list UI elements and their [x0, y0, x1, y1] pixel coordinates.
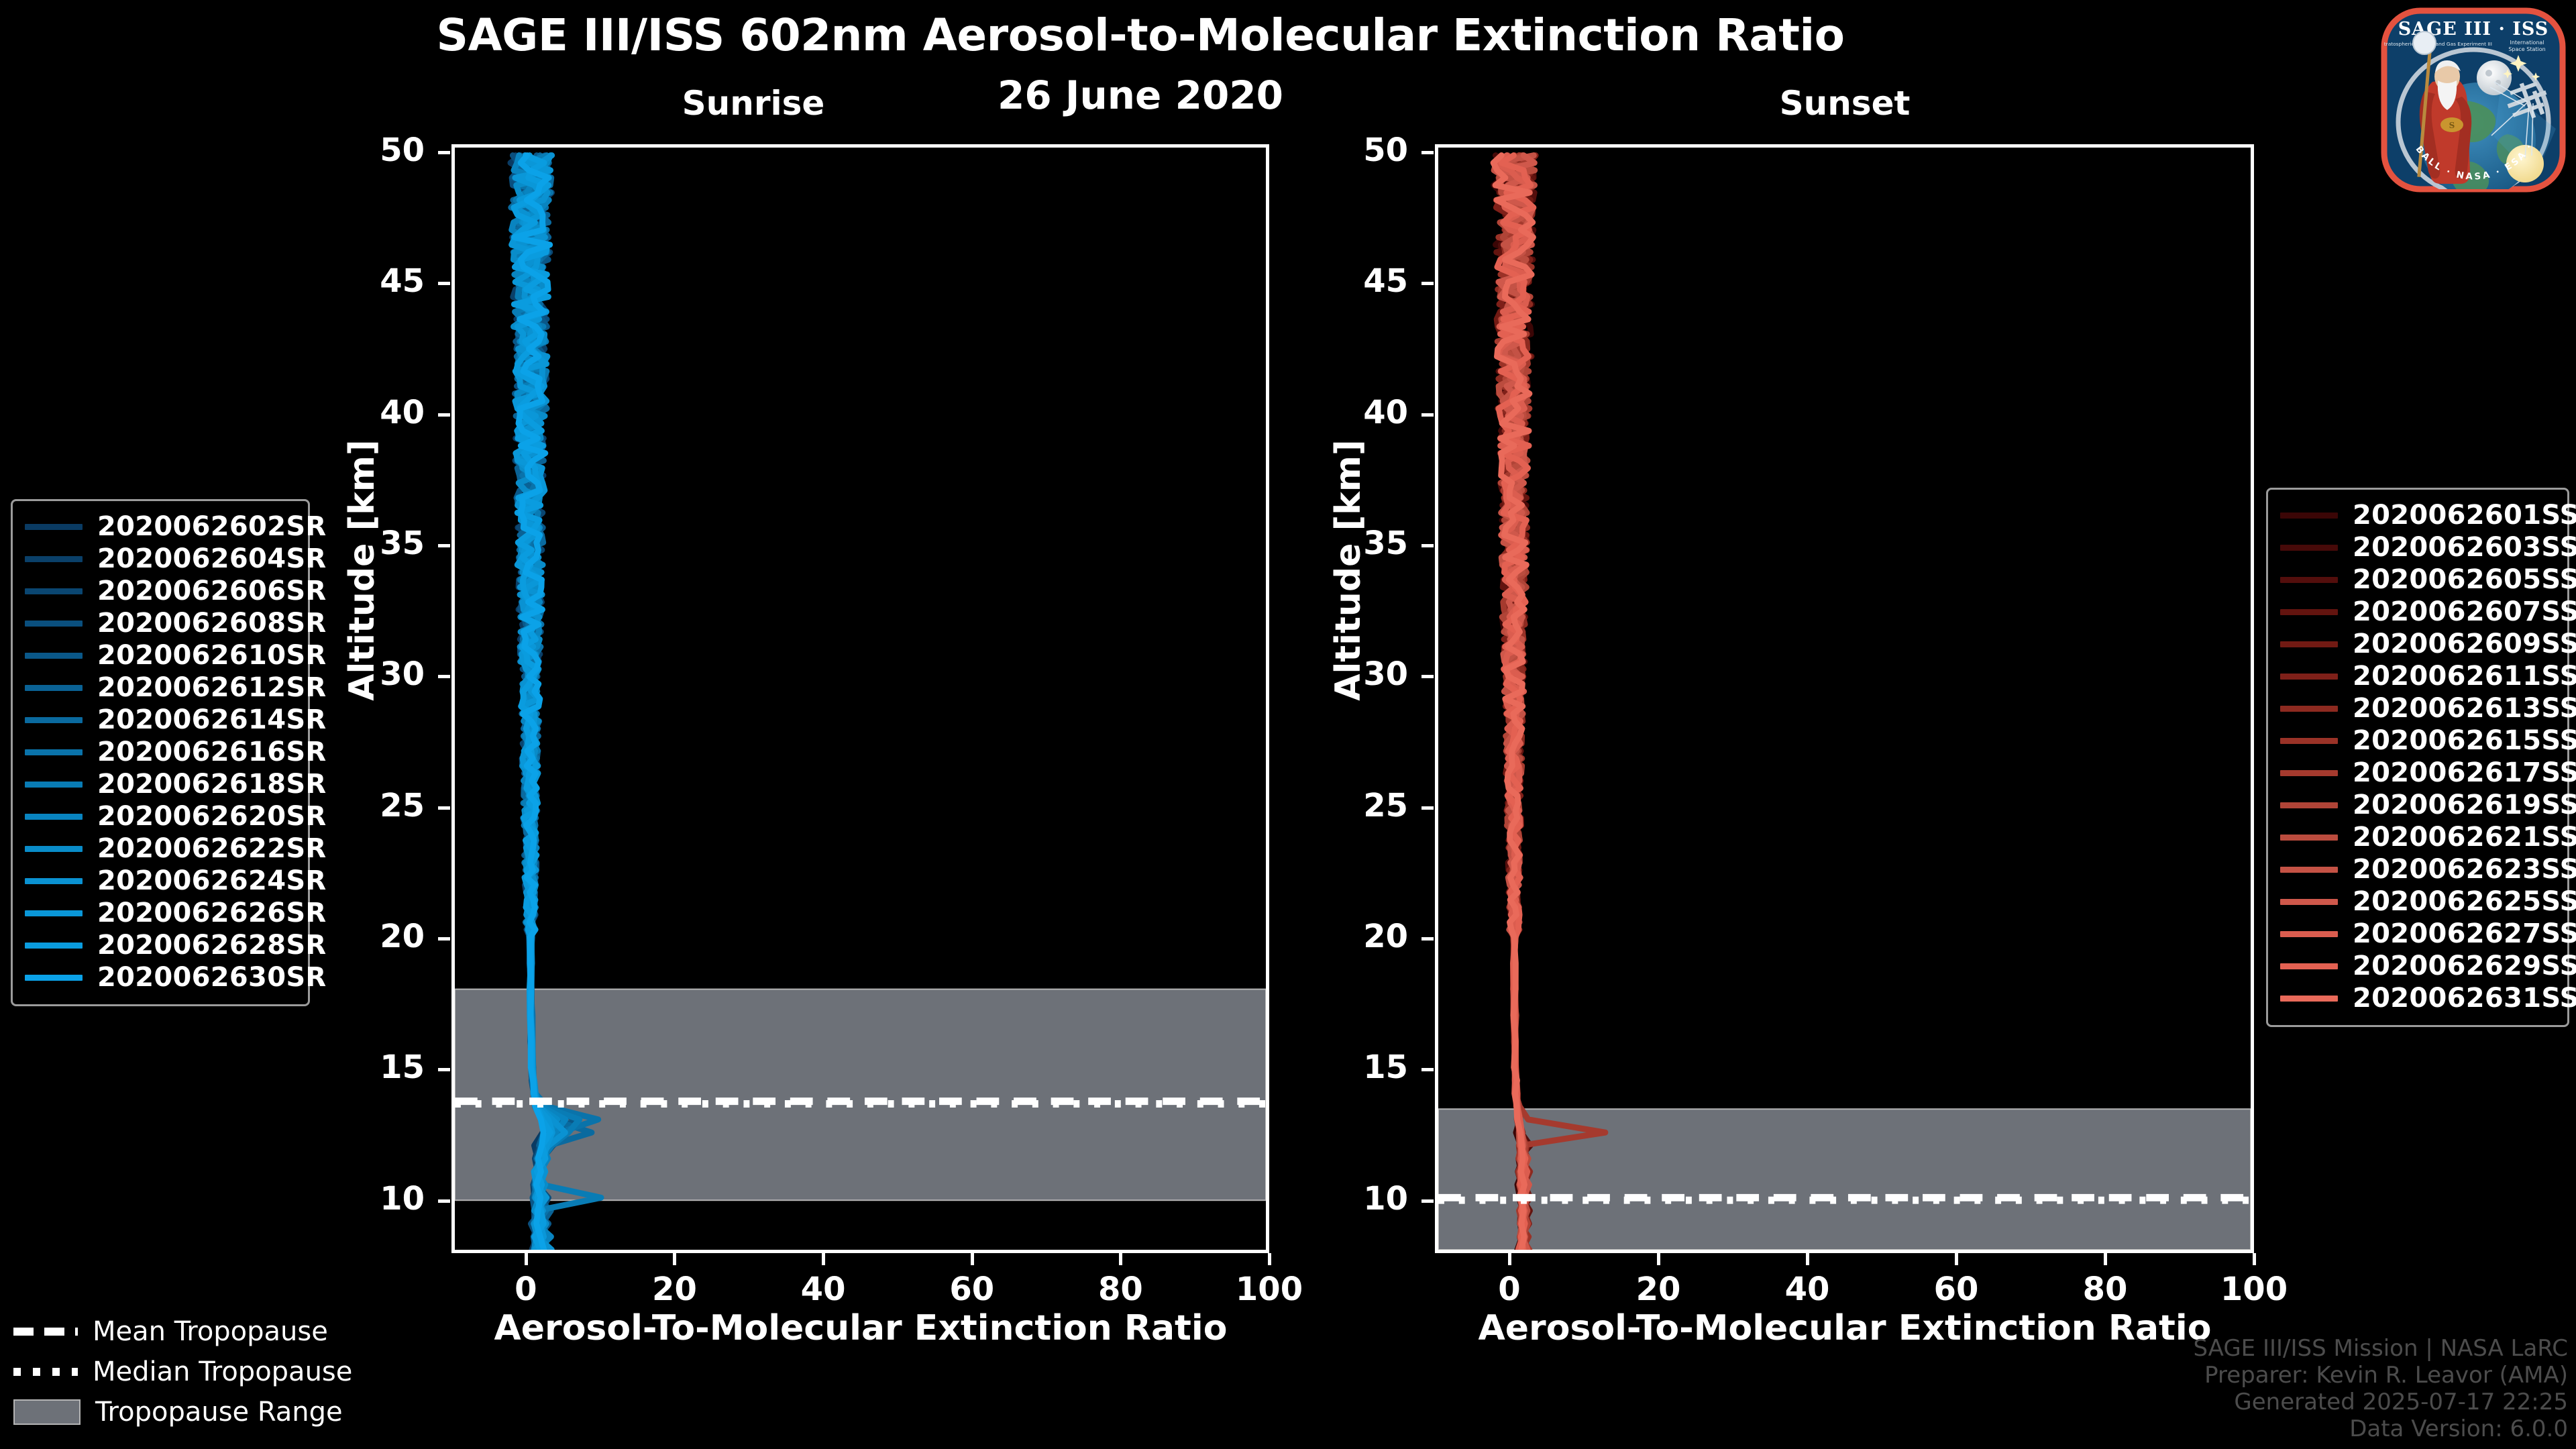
y-axis-tick-mark: [1421, 282, 1434, 285]
legend-item-label: 2020062631SS: [2353, 983, 2576, 1014]
legend-item[interactable]: 2020062605SS: [2280, 563, 2555, 596]
legend-item-label: 2020062606SR: [97, 576, 327, 606]
legend-color-swatch: [25, 814, 83, 820]
y-axis-tick-mark: [438, 937, 450, 941]
legend-item[interactable]: 2020062601SS: [2280, 499, 2555, 531]
legend-item-label: 2020062608SR: [97, 608, 327, 639]
legend-color-swatch: [2280, 931, 2338, 937]
legend-color-swatch: [25, 846, 83, 852]
legend-color-swatch: [2280, 899, 2338, 905]
legend-color-swatch: [2280, 996, 2338, 1002]
y-axis-tick-label: 25: [1301, 787, 1408, 824]
x-axis-tick-label: 40: [1747, 1271, 1868, 1308]
legend-item-label: 2020062619SS: [2353, 790, 2576, 820]
legend-item[interactable]: 2020062610SR: [25, 639, 296, 672]
legend-color-swatch: [25, 524, 83, 530]
legend-item[interactable]: 2020062620SR: [25, 800, 296, 833]
y-axis-tick-label: 15: [317, 1049, 425, 1086]
x-axis-tick-mark: [822, 1253, 825, 1265]
y-axis-tick-label: 20: [317, 918, 425, 955]
y-axis-tick-label: 15: [1301, 1049, 1408, 1086]
x-axis-tick-label: 80: [1060, 1271, 1181, 1308]
legend-item[interactable]: 2020062604SR: [25, 543, 296, 575]
y-axis-label-sunrise: Altitude [km]: [342, 429, 382, 711]
legend-item-label: 2020062610SR: [97, 640, 327, 671]
legend-item[interactable]: 2020062614SR: [25, 704, 296, 736]
x-axis-tick-mark: [971, 1253, 974, 1265]
y-axis-tick-mark: [438, 1068, 450, 1071]
legend-item[interactable]: 2020062622SR: [25, 833, 296, 865]
y-axis-tick-mark: [438, 151, 450, 154]
y-axis-tick-label: 50: [317, 131, 425, 169]
legend-item-label: 2020062630SR: [97, 962, 327, 993]
legend-color-swatch: [25, 621, 83, 627]
legend-item[interactable]: 2020062625SS: [2280, 885, 2555, 918]
legend-item[interactable]: 2020062626SR: [25, 897, 296, 929]
mission-patch-icon: SAGE III · ISS Stratospheric Aerosol and…: [2376, 3, 2571, 197]
legend-color-swatch: [25, 782, 83, 788]
legend-item[interactable]: 2020062618SR: [25, 768, 296, 800]
x-axis-tick-mark: [2104, 1253, 2107, 1265]
y-axis-tick-mark: [438, 675, 450, 678]
y-axis-tick-mark: [438, 282, 450, 285]
legend-color-swatch: [25, 943, 83, 949]
legend-color-swatch: [2280, 577, 2338, 583]
legend-color-swatch: [25, 556, 83, 562]
x-axis-tick-mark: [1508, 1253, 1511, 1265]
legend-item-label: 2020062609SS: [2353, 629, 2576, 659]
filled-box-icon: [13, 1399, 80, 1425]
legend-label-median-tropopause: Median Tropopause: [93, 1356, 352, 1387]
legend-item-label: 2020062603SS: [2353, 532, 2576, 563]
legend-item-label: 2020062601SS: [2353, 500, 2576, 531]
legend-color-swatch: [2280, 770, 2338, 776]
x-axis-tick-mark: [1268, 1253, 1271, 1265]
y-axis-tick-mark: [438, 1199, 450, 1203]
y-axis-tick-mark: [1421, 937, 1434, 941]
y-axis-tick-label: 45: [317, 262, 425, 300]
footer-mission: SAGE III/ISS Mission | NASA LaRC: [2193, 1335, 2568, 1362]
legend-row-tropopause-range: Tropopause Range: [13, 1392, 362, 1432]
legend-color-swatch: [2280, 963, 2338, 969]
legend-item-label: 2020062622SR: [97, 833, 327, 864]
y-axis-tick-mark: [1421, 806, 1434, 810]
legend-item-label: 2020062620SR: [97, 801, 327, 832]
legend-item[interactable]: 2020062608SR: [25, 607, 296, 639]
legend-color-swatch: [2280, 706, 2338, 712]
y-axis-tick-label: 45: [1301, 262, 1408, 300]
y-axis-tick-mark: [438, 544, 450, 547]
legend-item[interactable]: 2020062611SS: [2280, 660, 2555, 692]
tropopause-range-band: [1438, 1109, 2251, 1250]
legend-item[interactable]: 2020062623SS: [2280, 853, 2555, 885]
legend-sunset-events[interactable]: 2020062601SS2020062603SS2020062605SS2020…: [2266, 488, 2569, 1027]
legend-item-label: 2020062613SS: [2353, 693, 2576, 724]
y-axis-tick-mark: [1421, 413, 1434, 417]
legend-item-label: 2020062615SS: [2353, 725, 2576, 756]
legend-color-swatch: [25, 685, 83, 691]
legend-item[interactable]: 2020062609SS: [2280, 628, 2555, 660]
legend-item-label: 2020062604SR: [97, 543, 327, 574]
legend-item[interactable]: 2020062617SS: [2280, 757, 2555, 789]
legend-color-swatch: [25, 749, 83, 755]
y-axis-tick-label: 10: [317, 1180, 425, 1218]
legend-item-label: 2020062616SR: [97, 737, 327, 767]
legend-sunrise-events[interactable]: 2020062602SR2020062604SR2020062606SR2020…: [11, 499, 310, 1006]
legend-label-mean-tropopause: Mean Tropopause: [93, 1316, 328, 1347]
x-axis-tick-label: 0: [1449, 1271, 1570, 1308]
legend-color-swatch: [25, 717, 83, 723]
x-axis-tick-label: 0: [466, 1271, 586, 1308]
x-axis-tick-mark: [1119, 1253, 1122, 1265]
legend-color-swatch: [2280, 609, 2338, 615]
svg-text:Space Station: Space Station: [2508, 46, 2545, 52]
tropopause-range-band: [455, 989, 1266, 1201]
plot-canvas-sunset: [1438, 148, 2251, 1250]
y-axis-tick-mark: [1421, 151, 1434, 154]
legend-item-label: 2020062605SS: [2353, 564, 2576, 595]
y-axis-tick-label: 10: [1301, 1180, 1408, 1218]
legend-item-label: 2020062624SR: [97, 865, 327, 896]
legend-color-swatch: [2280, 545, 2338, 551]
panel-subtitle-sunrise: Sunrise: [653, 84, 854, 123]
plot-area-sunrise: [451, 144, 1269, 1253]
legend-item[interactable]: 2020062612SR: [25, 672, 296, 704]
x-axis-tick-mark: [1657, 1253, 1660, 1265]
svg-text:Stratospheric Aerosol and Gas: Stratospheric Aerosol and Gas Experiment…: [2381, 41, 2492, 47]
legend-item[interactable]: 2020062602SR: [25, 511, 296, 543]
legend-item[interactable]: 2020062624SR: [25, 865, 296, 897]
page-title: SAGE III/ISS 602nm Aerosol-to-Molecular …: [0, 9, 2281, 61]
footer-data-version: Data Version: 6.0.0: [2193, 1415, 2568, 1442]
footer-generated: Generated 2025-07-17 22:25: [2193, 1389, 2568, 1415]
footer-credit: SAGE III/ISS Mission | NASA LaRC Prepare…: [2193, 1335, 2568, 1442]
legend-color-swatch: [2280, 641, 2338, 647]
footer-preparer: Preparer: Kevin R. Leavor (AMA): [2193, 1362, 2568, 1389]
legend-color-swatch: [2280, 674, 2338, 680]
legend-item-label: 2020062602SR: [97, 511, 327, 542]
legend-color-swatch: [25, 653, 83, 659]
y-axis-tick-mark: [1421, 544, 1434, 547]
legend-item-label: 2020062629SS: [2353, 951, 2576, 981]
sage-iii-iss-mission-patch-logo: SAGE III · ISS Stratospheric Aerosol and…: [2376, 3, 2571, 197]
legend-item[interactable]: 2020062628SR: [25, 929, 296, 961]
svg-text:International: International: [2510, 40, 2544, 46]
legend-color-swatch: [25, 588, 83, 594]
x-axis-tick-label: 60: [912, 1271, 1032, 1308]
legend-row-mean-tropopause: Mean Tropopause: [13, 1311, 362, 1352]
svg-text:S: S: [2449, 121, 2455, 130]
legend-item-label: 2020062625SS: [2353, 886, 2576, 917]
legend-item[interactable]: 2020062619SS: [2280, 789, 2555, 821]
legend-item-label: 2020062628SR: [97, 930, 327, 961]
y-axis-tick-mark: [438, 413, 450, 417]
legend-color-swatch: [2280, 802, 2338, 808]
y-axis-tick-mark: [438, 806, 450, 810]
legend-item[interactable]: 2020062615SS: [2280, 724, 2555, 757]
x-axis-label-sunset: Aerosol-To-Molecular Extinction Ratio: [1368, 1308, 2321, 1348]
y-axis-tick-label: 20: [1301, 918, 1408, 955]
x-axis-tick-mark: [525, 1253, 528, 1265]
y-axis-tick-label: 50: [1301, 131, 1408, 169]
legend-item-label: 2020062623SS: [2353, 854, 2576, 885]
legend-item[interactable]: 2020062613SS: [2280, 692, 2555, 724]
y-axis-tick-mark: [1421, 1068, 1434, 1071]
legend-item-label: 2020062618SR: [97, 769, 327, 800]
legend-item-label: 2020062614SR: [97, 704, 327, 735]
legend-item[interactable]: 2020062627SS: [2280, 918, 2555, 950]
y-axis-tick-label: 40: [317, 394, 425, 431]
y-axis-tick-mark: [1421, 1199, 1434, 1203]
plot-area-sunset: [1435, 144, 2254, 1253]
legend-item[interactable]: 2020062607SS: [2280, 596, 2555, 628]
x-axis-tick-mark: [1806, 1253, 1809, 1265]
x-axis-label-sunrise: Aerosol-To-Molecular Extinction Ratio: [384, 1308, 1337, 1348]
legend-item[interactable]: 2020062603SS: [2280, 531, 2555, 563]
legend-color-swatch: [2280, 867, 2338, 873]
legend-item[interactable]: 2020062606SR: [25, 575, 296, 607]
x-axis-tick-mark: [1955, 1253, 1958, 1265]
x-axis-tick-mark: [673, 1253, 676, 1265]
legend-item[interactable]: 2020062631SS: [2280, 982, 2555, 1014]
legend-item[interactable]: 2020062629SS: [2280, 950, 2555, 982]
legend-item[interactable]: 2020062621SS: [2280, 821, 2555, 853]
legend-row-median-tropopause: Median Tropopause: [13, 1352, 362, 1392]
dotted-line-icon: [13, 1368, 78, 1376]
legend-item-label: 2020062621SS: [2353, 822, 2576, 853]
legend-label-tropopause-range: Tropopause Range: [95, 1397, 343, 1428]
legend-color-swatch: [25, 975, 83, 981]
legend-item-label: 2020062611SS: [2353, 661, 2576, 692]
legend-item-label: 2020062626SR: [97, 898, 327, 928]
x-axis-tick-label: 20: [614, 1271, 735, 1308]
legend-item-label: 2020062612SR: [97, 672, 327, 703]
x-axis-tick-label: 40: [763, 1271, 883, 1308]
legend-item-label: 2020062617SS: [2353, 757, 2576, 788]
legend-color-swatch: [2280, 738, 2338, 744]
legend-tropopause: Mean Tropopause Median Tropopause Tropop…: [13, 1311, 362, 1432]
x-axis-tick-label: 60: [1896, 1271, 2017, 1308]
y-axis-label-sunset: Altitude [km]: [1328, 429, 1368, 711]
y-axis-tick-label: 40: [1301, 394, 1408, 431]
y-axis-tick-label: 25: [317, 787, 425, 824]
legend-item[interactable]: 2020062630SR: [25, 961, 296, 994]
x-axis-tick-label: 100: [2194, 1271, 2314, 1308]
legend-color-swatch: [25, 878, 83, 884]
x-axis-tick-label: 20: [1598, 1271, 1719, 1308]
dashed-line-icon: [13, 1328, 78, 1336]
x-axis-tick-mark: [2253, 1253, 2256, 1265]
legend-item-label: 2020062607SS: [2353, 596, 2576, 627]
plot-canvas-sunrise: [455, 148, 1266, 1250]
legend-color-swatch: [2280, 835, 2338, 841]
legend-color-swatch: [25, 910, 83, 916]
legend-item-label: 2020062627SS: [2353, 918, 2576, 949]
y-axis-tick-mark: [1421, 675, 1434, 678]
legend-item[interactable]: 2020062616SR: [25, 736, 296, 768]
panel-subtitle-sunset: Sunset: [1744, 84, 1945, 123]
x-axis-tick-label: 100: [1209, 1271, 1330, 1308]
legend-color-swatch: [2280, 513, 2338, 519]
x-axis-tick-label: 80: [2045, 1271, 2165, 1308]
